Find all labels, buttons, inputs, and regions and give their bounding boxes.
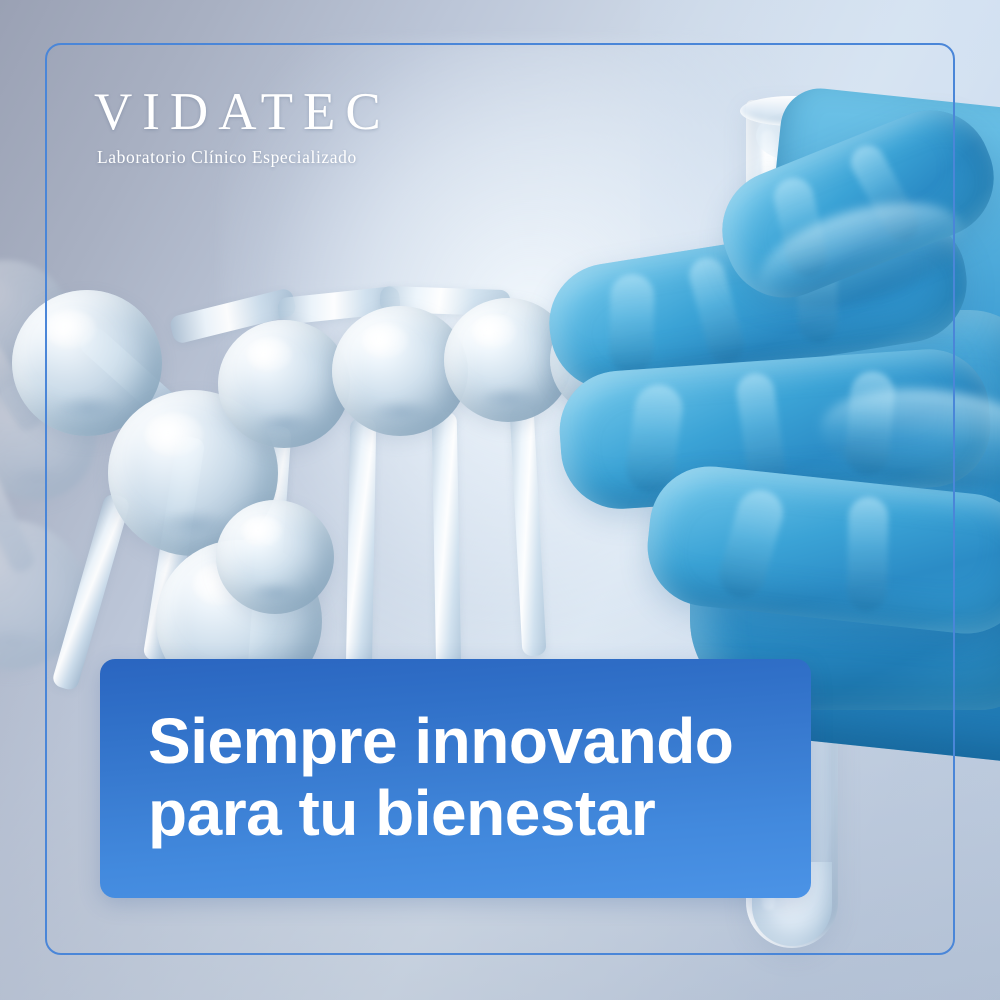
brand-name: VIDATEC — [94, 86, 391, 139]
molecule-node — [218, 320, 350, 448]
molecule-rod — [432, 412, 462, 680]
brand-tagline: Laboratorio Clínico Especializado — [97, 147, 391, 168]
molecule-rod — [346, 418, 377, 680]
headline-line-2: para tu bienestar — [148, 777, 811, 849]
headline-line-1: Siempre innovando — [148, 705, 811, 777]
promotional-poster: VIDATEC Laboratorio Clínico Especializad… — [0, 0, 1000, 1000]
brand-logo: VIDATEC Laboratorio Clínico Especializad… — [94, 86, 391, 168]
headline-banner: Siempre innovando para tu bienestar — [100, 659, 811, 898]
molecule-node — [216, 500, 334, 614]
blue-nitrile-gloved-hand — [520, 60, 1000, 760]
